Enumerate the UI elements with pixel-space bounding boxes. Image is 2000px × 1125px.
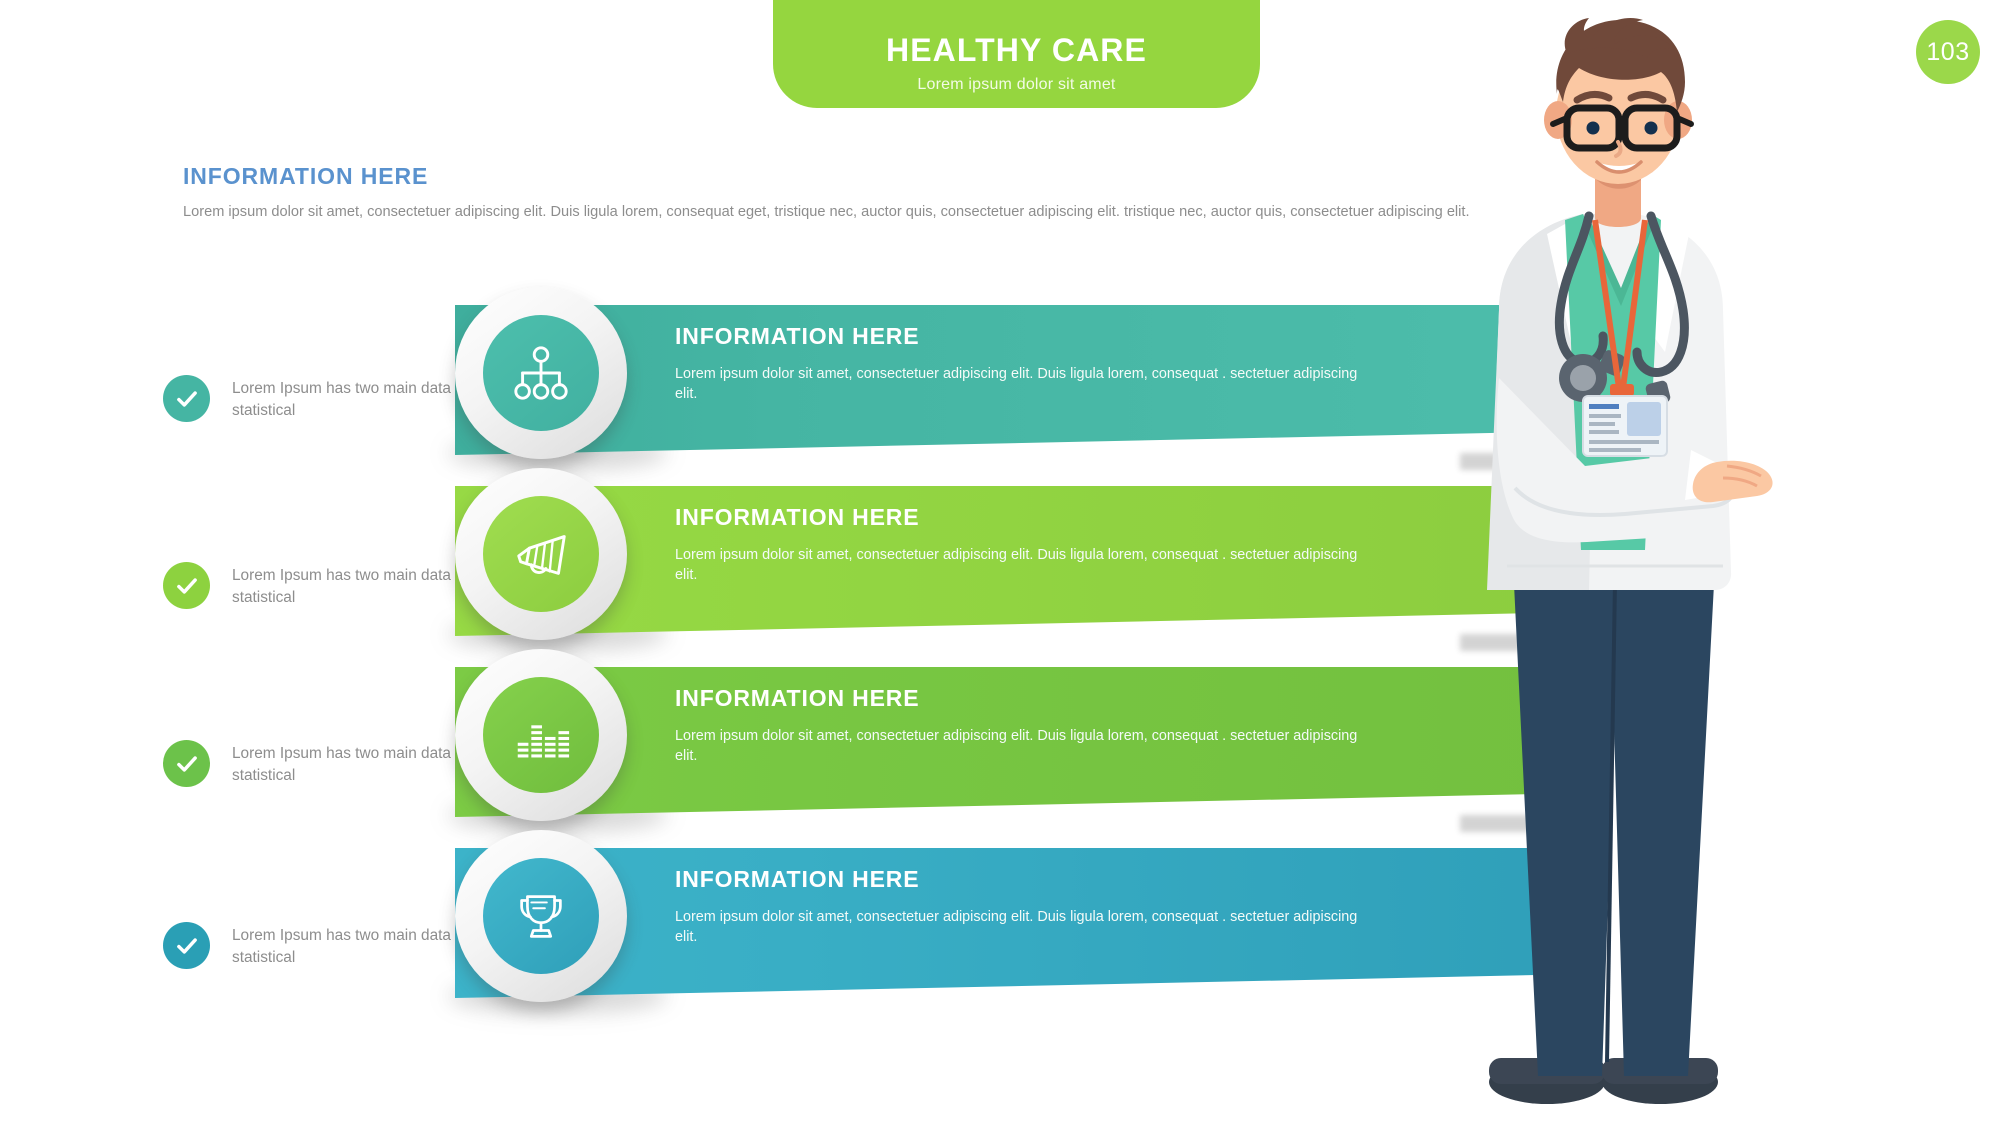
- equalizer-icon: [483, 677, 599, 793]
- bar-text-block: INFORMATION HERE Lorem ipsum dolor sit a…: [675, 685, 1415, 767]
- page-title: HEALTHY CARE: [886, 34, 1147, 68]
- bar-text-block: INFORMATION HERE Lorem ipsum dolor sit a…: [675, 866, 1415, 948]
- page-subtitle: Lorem ipsum dolor sit amet: [917, 76, 1115, 94]
- bar-text-block: INFORMATION HERE Lorem ipsum dolor sit a…: [675, 504, 1415, 586]
- bar-icon-badge[interactable]: [455, 468, 627, 640]
- bar-title: INFORMATION HERE: [675, 866, 1415, 893]
- bar-icon-badge[interactable]: [455, 287, 627, 459]
- page-number-badge: 103: [1916, 20, 1980, 84]
- megaphone-icon: [483, 496, 599, 612]
- bar-icon-badge[interactable]: [455, 830, 627, 1002]
- info-bar-3[interactable]: INFORMATION HERE Lorem ipsum dolor sit a…: [0, 647, 1600, 827]
- info-bar-4[interactable]: INFORMATION HERE Lorem ipsum dolor sit a…: [0, 828, 1600, 1008]
- intro-body: Lorem ipsum dolor sit amet, consectetuer…: [183, 202, 1473, 223]
- intro-section: INFORMATION HERE Lorem ipsum dolor sit a…: [183, 163, 1483, 223]
- info-bar-2[interactable]: INFORMATION HERE Lorem ipsum dolor sit a…: [0, 466, 1600, 646]
- bar-text-block: INFORMATION HERE Lorem ipsum dolor sit a…: [675, 323, 1415, 405]
- info-bar-1[interactable]: INFORMATION HERE Lorem ipsum dolor sit a…: [0, 285, 1600, 465]
- bar-body: Lorem ipsum dolor sit amet, consectetuer…: [675, 364, 1365, 405]
- bar-icon-badge[interactable]: [455, 649, 627, 821]
- bar-body: Lorem ipsum dolor sit amet, consectetuer…: [675, 545, 1365, 586]
- trophy-icon: [483, 858, 599, 974]
- bar-body: Lorem ipsum dolor sit amet, consectetuer…: [675, 726, 1365, 767]
- intro-title: INFORMATION HERE: [183, 163, 1483, 190]
- bar-title: INFORMATION HERE: [675, 323, 1415, 350]
- header-banner: HEALTHY CARE Lorem ipsum dolor sit amet: [773, 0, 1260, 108]
- bar-title: INFORMATION HERE: [675, 504, 1415, 531]
- hierarchy-icon: [483, 315, 599, 431]
- bar-body: Lorem ipsum dolor sit amet, consectetuer…: [675, 907, 1365, 948]
- bar-title: INFORMATION HERE: [675, 685, 1415, 712]
- doctor-character: [1455, 10, 1785, 1120]
